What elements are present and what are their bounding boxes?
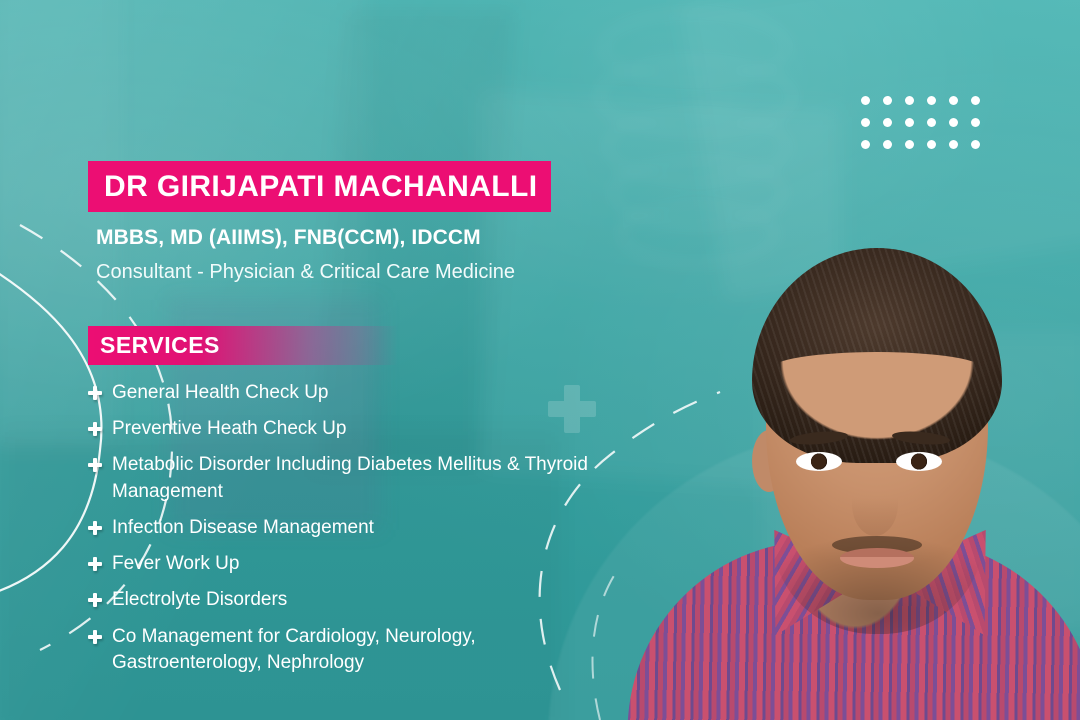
service-label: Infection Disease Management	[112, 515, 374, 541]
plus-icon	[88, 630, 102, 644]
eye-right	[896, 452, 942, 471]
plus-icon	[88, 593, 102, 607]
service-label: General Health Check Up	[112, 380, 329, 406]
plus-icon	[88, 386, 102, 400]
list-item: Metabolic Disorder Including Diabetes Me…	[88, 452, 588, 504]
service-label: Electrolyte Disorders	[112, 587, 287, 613]
doctor-degrees: MBBS, MD (AIIMS), FNB(CCM), IDCCM	[96, 226, 481, 250]
list-item: Fever Work Up	[88, 551, 588, 577]
nose	[852, 472, 898, 536]
list-item: General Health Check Up	[88, 380, 588, 406]
doctor-portrait-photo	[600, 0, 1080, 720]
plus-icon	[88, 521, 102, 535]
list-item: Preventive Heath Check Up	[88, 416, 588, 442]
plus-icon	[88, 422, 102, 436]
list-item: Co Management for Cardiology, Neurology,…	[88, 624, 588, 676]
doctor-profile-poster: DR GIRIJAPATI MACHANALLI MBBS, MD (AIIMS…	[0, 0, 1080, 720]
list-item: Electrolyte Disorders	[88, 587, 588, 613]
service-label: Fever Work Up	[112, 551, 239, 577]
doctor-role: Consultant - Physician & Critical Care M…	[96, 259, 526, 285]
plus-icon	[88, 557, 102, 571]
eye-left	[796, 452, 842, 471]
list-item: Infection Disease Management	[88, 515, 588, 541]
plus-icon	[88, 458, 102, 472]
services-heading: SERVICES	[100, 332, 220, 359]
doctor-name: DR GIRIJAPATI MACHANALLI	[104, 172, 537, 202]
services-list: General Health Check Up Preventive Heath…	[88, 380, 588, 686]
service-label: Metabolic Disorder Including Diabetes Me…	[112, 452, 588, 504]
hair	[752, 248, 1002, 463]
services-heading-banner: SERVICES	[88, 326, 398, 365]
service-label: Co Management for Cardiology, Neurology,…	[112, 624, 588, 676]
service-label: Preventive Heath Check Up	[112, 416, 346, 442]
doctor-name-banner: DR GIRIJAPATI MACHANALLI	[88, 161, 551, 212]
mouth	[840, 548, 914, 568]
